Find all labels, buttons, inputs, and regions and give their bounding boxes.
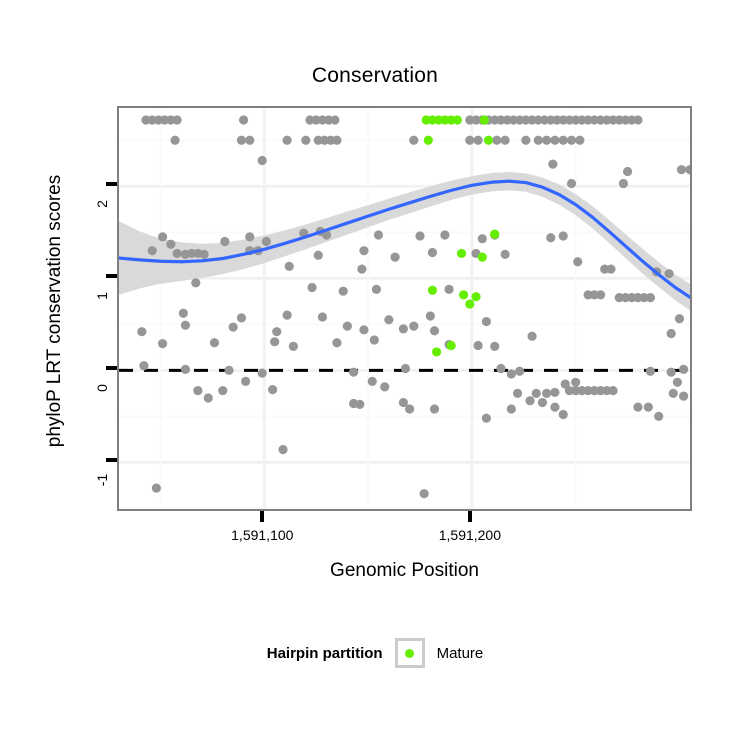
data-point bbox=[314, 251, 323, 260]
data-point bbox=[390, 253, 399, 262]
data-point bbox=[380, 382, 389, 391]
data-point bbox=[534, 136, 543, 145]
data-point bbox=[542, 136, 551, 145]
data-point bbox=[283, 136, 292, 145]
data-point bbox=[330, 115, 339, 124]
data-point bbox=[478, 234, 487, 243]
chart-title: Conservation bbox=[0, 64, 750, 88]
data-point bbox=[359, 325, 368, 334]
data-point bbox=[204, 393, 213, 402]
y-axis-label: phyloP LRT conservation scores bbox=[44, 101, 66, 521]
data-point bbox=[667, 368, 676, 377]
data-point bbox=[677, 165, 686, 174]
data-point bbox=[158, 339, 167, 348]
data-point bbox=[139, 361, 148, 370]
data-point bbox=[444, 285, 453, 294]
data-point bbox=[220, 237, 229, 246]
data-point bbox=[179, 309, 188, 318]
plot-panel bbox=[117, 106, 692, 511]
data-point bbox=[474, 136, 483, 145]
data-point bbox=[224, 366, 233, 375]
data-point bbox=[245, 136, 254, 145]
data-point bbox=[571, 378, 580, 387]
x-axis-label: Genomic Position bbox=[117, 560, 692, 582]
data-point bbox=[501, 250, 510, 259]
data-point bbox=[415, 231, 424, 240]
data-point bbox=[420, 489, 429, 498]
data-point bbox=[258, 368, 267, 377]
data-point bbox=[301, 136, 310, 145]
y-tick-label: 0 bbox=[94, 368, 110, 408]
data-point bbox=[567, 179, 576, 188]
data-point bbox=[480, 115, 489, 124]
data-point bbox=[173, 249, 182, 258]
legend-title: Hairpin partition bbox=[267, 645, 383, 662]
data-point bbox=[685, 165, 692, 174]
data-point bbox=[428, 248, 437, 257]
data-point bbox=[550, 403, 559, 412]
data-point bbox=[575, 136, 584, 145]
data-point bbox=[490, 342, 499, 351]
chart-root: Conservation phyloP LRT conservation sco… bbox=[0, 0, 750, 750]
data-point bbox=[507, 369, 516, 378]
data-point bbox=[447, 341, 456, 350]
x-tick-label: 1,591,100 bbox=[231, 527, 293, 543]
data-point bbox=[170, 136, 179, 145]
data-point bbox=[484, 136, 493, 145]
data-point bbox=[459, 290, 468, 299]
data-point bbox=[646, 367, 655, 376]
data-point bbox=[633, 403, 642, 412]
x-tick-label: 1,591,200 bbox=[439, 527, 501, 543]
data-point bbox=[343, 322, 352, 331]
data-point bbox=[550, 388, 559, 397]
data-point bbox=[285, 262, 294, 271]
data-point bbox=[332, 136, 341, 145]
data-point bbox=[181, 365, 190, 374]
data-point bbox=[542, 389, 551, 398]
data-point bbox=[173, 115, 182, 124]
data-point bbox=[474, 341, 483, 350]
data-point bbox=[237, 313, 246, 322]
data-point bbox=[349, 368, 358, 377]
data-point bbox=[465, 136, 474, 145]
data-point bbox=[428, 286, 437, 295]
data-point bbox=[200, 250, 209, 259]
data-point bbox=[606, 264, 615, 273]
data-point bbox=[453, 115, 462, 124]
data-point bbox=[675, 314, 684, 323]
data-point bbox=[532, 389, 541, 398]
data-point bbox=[507, 404, 516, 413]
data-point bbox=[368, 377, 377, 386]
data-point bbox=[527, 332, 536, 341]
data-point bbox=[559, 136, 568, 145]
data-point bbox=[654, 412, 663, 421]
data-point bbox=[538, 398, 547, 407]
data-point bbox=[239, 115, 248, 124]
data-point bbox=[355, 400, 364, 409]
data-point bbox=[193, 386, 202, 395]
data-point bbox=[501, 136, 510, 145]
data-point bbox=[679, 365, 688, 374]
data-point bbox=[401, 364, 410, 373]
data-point bbox=[283, 311, 292, 320]
data-point bbox=[332, 338, 341, 347]
data-point bbox=[307, 283, 316, 292]
plot-canvas bbox=[119, 108, 692, 511]
data-point bbox=[546, 233, 555, 242]
x-tick-mark bbox=[260, 511, 264, 522]
data-point bbox=[521, 136, 530, 145]
data-point bbox=[669, 389, 678, 398]
legend-dot-icon bbox=[405, 649, 414, 658]
data-point bbox=[245, 232, 254, 241]
gridlines bbox=[119, 108, 692, 511]
data-point bbox=[262, 237, 271, 246]
legend: Hairpin partition Mature bbox=[0, 638, 750, 668]
data-point bbox=[608, 386, 617, 395]
data-point bbox=[559, 231, 568, 240]
data-point bbox=[268, 385, 277, 394]
data-point bbox=[258, 156, 267, 165]
legend-label-mature: Mature bbox=[437, 645, 484, 662]
data-point bbox=[374, 230, 383, 239]
data-point bbox=[525, 396, 534, 405]
data-point bbox=[492, 136, 501, 145]
data-point bbox=[644, 403, 653, 412]
x-tick-mark bbox=[468, 511, 472, 522]
data-point bbox=[432, 347, 441, 356]
data-point bbox=[478, 253, 487, 262]
data-point bbox=[567, 136, 576, 145]
data-point bbox=[482, 414, 491, 423]
data-point bbox=[482, 317, 491, 326]
legend-key-mature[interactable] bbox=[395, 638, 425, 668]
data-point bbox=[513, 389, 522, 398]
data-point bbox=[181, 321, 190, 330]
data-point bbox=[384, 315, 393, 324]
data-point bbox=[559, 410, 568, 419]
data-point bbox=[424, 136, 433, 145]
data-point bbox=[409, 136, 418, 145]
data-point bbox=[633, 115, 642, 124]
data-point bbox=[399, 324, 408, 333]
data-point bbox=[623, 167, 632, 176]
series-other-points bbox=[137, 115, 692, 498]
data-point bbox=[465, 299, 474, 308]
data-point bbox=[457, 249, 466, 258]
data-point bbox=[370, 335, 379, 344]
data-point bbox=[673, 378, 682, 387]
data-point bbox=[664, 269, 673, 278]
data-point bbox=[490, 230, 499, 239]
data-point bbox=[218, 386, 227, 395]
data-point bbox=[550, 136, 559, 145]
data-point bbox=[318, 312, 327, 321]
data-point bbox=[548, 160, 557, 169]
data-point bbox=[158, 232, 167, 241]
data-point bbox=[339, 287, 348, 296]
data-point bbox=[667, 329, 676, 338]
data-point bbox=[679, 392, 688, 401]
y-tick-label: -1 bbox=[94, 460, 110, 500]
data-point bbox=[229, 322, 238, 331]
data-point bbox=[357, 264, 366, 273]
data-point bbox=[359, 246, 368, 255]
data-point bbox=[372, 285, 381, 294]
data-point bbox=[596, 290, 605, 299]
y-tick-label: 2 bbox=[94, 184, 110, 224]
data-point bbox=[237, 136, 246, 145]
data-point bbox=[278, 445, 287, 454]
data-point bbox=[573, 257, 582, 266]
y-tick-label: 1 bbox=[94, 276, 110, 316]
data-point bbox=[471, 292, 480, 301]
data-point bbox=[619, 179, 628, 188]
data-point bbox=[430, 404, 439, 413]
data-point bbox=[409, 322, 418, 331]
data-point bbox=[148, 246, 157, 255]
data-point bbox=[405, 404, 414, 413]
data-point bbox=[440, 230, 449, 239]
data-point bbox=[496, 364, 505, 373]
data-point bbox=[646, 293, 655, 302]
data-point bbox=[152, 484, 161, 493]
data-point bbox=[137, 327, 146, 336]
data-point bbox=[272, 327, 281, 336]
data-point bbox=[270, 337, 279, 346]
data-point bbox=[289, 342, 298, 351]
data-point bbox=[166, 240, 175, 249]
data-point bbox=[241, 377, 250, 386]
data-point bbox=[430, 326, 439, 335]
data-point bbox=[191, 278, 200, 287]
data-point bbox=[426, 311, 435, 320]
data-point bbox=[210, 338, 219, 347]
data-point bbox=[515, 367, 524, 376]
